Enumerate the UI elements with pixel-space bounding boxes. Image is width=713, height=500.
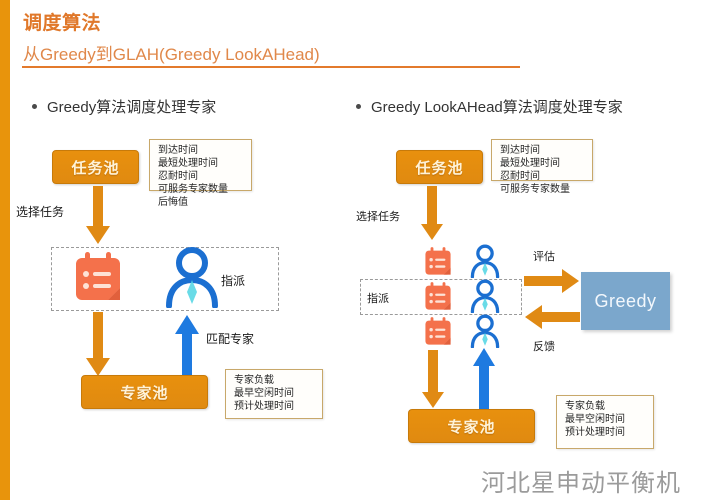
- right-task-pool-box[interactable]: 任务池: [396, 150, 483, 184]
- right-select-task-label: 选择任务: [356, 208, 400, 224]
- right-heading-text: Greedy LookAHead算法调度处理专家: [371, 99, 623, 116]
- task-list-icon: [422, 316, 454, 348]
- right-expert-attributes-note: 专家负载 最早空闲时间 预计处理时间: [556, 395, 654, 449]
- arrow-right-icon: [524, 268, 580, 294]
- page-subtitle: 从Greedy到GLAH(Greedy LookAHead): [23, 40, 320, 65]
- right-assign-label: 指派: [367, 290, 389, 306]
- note-line: 预计处理时间: [234, 400, 316, 413]
- left-expert-attributes-note: 专家负载 最早空闲时间 预计处理时间: [225, 369, 323, 419]
- left-select-task-label: 选择任务: [16, 203, 64, 220]
- bullet-dot-icon: [356, 104, 361, 109]
- task-list-icon: [422, 281, 454, 313]
- note-line: 专家负载: [234, 374, 316, 387]
- person-icon: [470, 244, 500, 278]
- arrow-left-icon: [524, 304, 580, 330]
- left-expert-pool-box[interactable]: 专家池: [81, 375, 208, 409]
- evaluate-label: 评估: [533, 248, 555, 264]
- note-line: 忍耐时间: [158, 170, 245, 183]
- note-line: 最早空闲时间: [565, 413, 647, 426]
- greedy-algorithm-box[interactable]: Greedy: [581, 272, 670, 330]
- note-line: 忍耐时间: [500, 170, 586, 183]
- arrow-up-icon: [174, 315, 200, 377]
- right-expert-pool-box[interactable]: 专家池: [408, 409, 535, 443]
- left-task-pool-box[interactable]: 任务池: [52, 150, 139, 184]
- feedback-label: 反馈: [533, 338, 555, 354]
- left-panel-heading: Greedy算法调度处理专家: [32, 96, 216, 117]
- left-accent-bar: [0, 0, 10, 500]
- person-icon: [470, 279, 500, 313]
- task-list-icon: [422, 246, 454, 278]
- person-icon: [470, 314, 500, 348]
- arrow-down-icon: [420, 186, 444, 242]
- page-title: 调度算法: [23, 8, 101, 35]
- note-line: 最短处理时间: [158, 157, 245, 170]
- arrow-down-icon: [85, 186, 111, 246]
- person-icon: [165, 246, 219, 308]
- note-line: 后悔值: [158, 196, 245, 209]
- note-line: 可服务专家数量: [500, 183, 586, 196]
- left-assign-label: 指派: [221, 272, 245, 289]
- right-task-attributes-note: 到达时间 最短处理时间 忍耐时间 可服务专家数量: [491, 139, 593, 181]
- note-line: 到达时间: [500, 144, 586, 157]
- left-match-expert-label: 匹配专家: [206, 330, 254, 347]
- left-heading-text: Greedy算法调度处理专家: [47, 99, 216, 116]
- right-panel-heading: Greedy LookAHead算法调度处理专家: [356, 96, 623, 117]
- arrow-down-icon: [421, 350, 445, 410]
- note-line: 可服务专家数量: [158, 183, 245, 196]
- slide-canvas: 调度算法 从Greedy到GLAH(Greedy LookAHead) Gree…: [0, 0, 713, 500]
- watermark-text: 河北星申动平衡机: [481, 463, 681, 498]
- arrow-up-icon: [472, 348, 496, 410]
- note-line: 到达时间: [158, 144, 245, 157]
- left-task-attributes-note: 到达时间 最短处理时间 忍耐时间 可服务专家数量 后悔值: [149, 139, 252, 191]
- note-line: 最短处理时间: [500, 157, 586, 170]
- title-divider: [22, 66, 520, 68]
- bullet-dot-icon: [32, 104, 37, 109]
- note-line: 预计处理时间: [565, 426, 647, 439]
- arrow-down-icon: [85, 312, 111, 378]
- note-line: 专家负载: [565, 400, 647, 413]
- note-line: 最早空闲时间: [234, 387, 316, 400]
- task-list-icon: [70, 250, 126, 306]
